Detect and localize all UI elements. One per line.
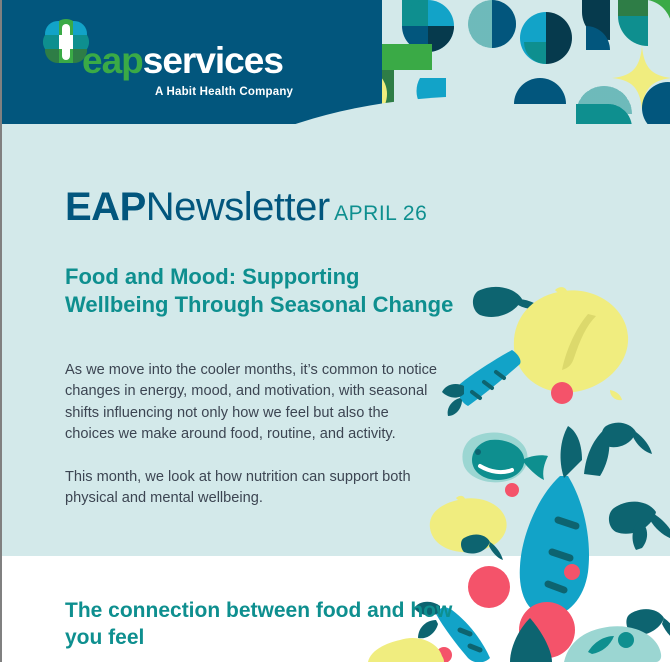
article-paragraph-2: This month, we look at how nutrition can… xyxy=(65,467,440,510)
article-paragraph-1: As we move into the cooler months, it’s … xyxy=(65,360,440,445)
article-headline: Food and Mood: Supporting Wellbeing Thro… xyxy=(65,263,465,319)
section-subheading: The connection between food and how you … xyxy=(65,597,465,652)
logo-eap-text: eap xyxy=(82,40,143,81)
logo-services-text: services xyxy=(143,40,283,81)
masthead-date: APRIL 26 xyxy=(334,202,427,225)
masthead-light: Newsletter xyxy=(146,185,330,229)
logo-tagline: A Habit Health Company xyxy=(155,86,293,98)
brand-logo[interactable]: eapservices A Habit Health Company xyxy=(40,16,340,106)
page-header: eapservices A Habit Health Company xyxy=(2,0,670,124)
masthead-bold: EAP xyxy=(65,185,146,229)
page-title: EAPNewsletter APRIL 26 xyxy=(65,185,427,230)
logo-wordmark: eapservices xyxy=(82,42,283,79)
newsletter-page: eapservices A Habit Health Company xyxy=(0,0,670,662)
